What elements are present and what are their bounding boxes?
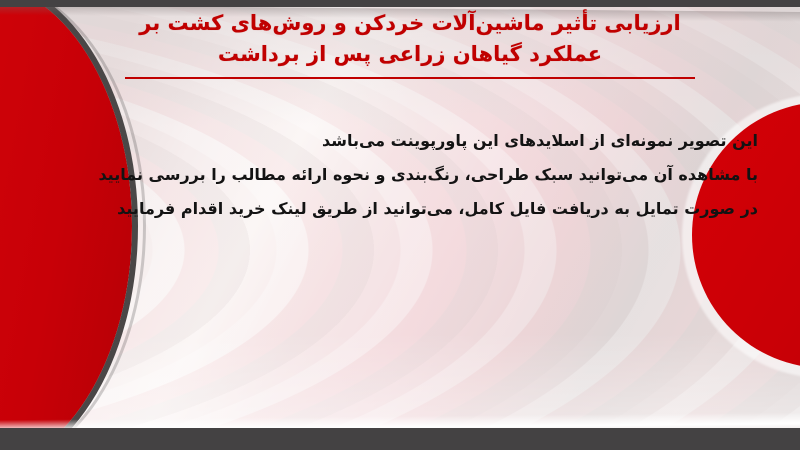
slide-title-line-1: ارزیابی تأثیر ماشین‌آلات خردکن و روش‌های… <box>110 8 710 39</box>
title-underline-rule <box>125 77 695 79</box>
top-rail <box>0 0 800 7</box>
slide-body-line-3: در صورت تمایل به دریافت فایل کامل، می‌تو… <box>44 192 758 226</box>
slide-title: ارزیابی تأثیر ماشین‌آلات خردکن و روش‌های… <box>110 8 710 79</box>
bottom-rail <box>0 428 800 450</box>
slide-title-line-2: عملکرد گیاهان زراعی پس از برداشت <box>110 39 710 70</box>
slide-body-line-1: این تصویر نمونه‌ای از اسلایدهای این پاور… <box>44 124 758 158</box>
slide-body-line-2: با مشاهده آن می‌توانید سبک طراحی، رنگ‌بن… <box>44 158 758 192</box>
slide-body: این تصویر نمونه‌ای از اسلایدهای این پاور… <box>44 124 758 226</box>
presentation-slide: ارزیابی تأثیر ماشین‌آلات خردکن و روش‌های… <box>0 0 800 450</box>
